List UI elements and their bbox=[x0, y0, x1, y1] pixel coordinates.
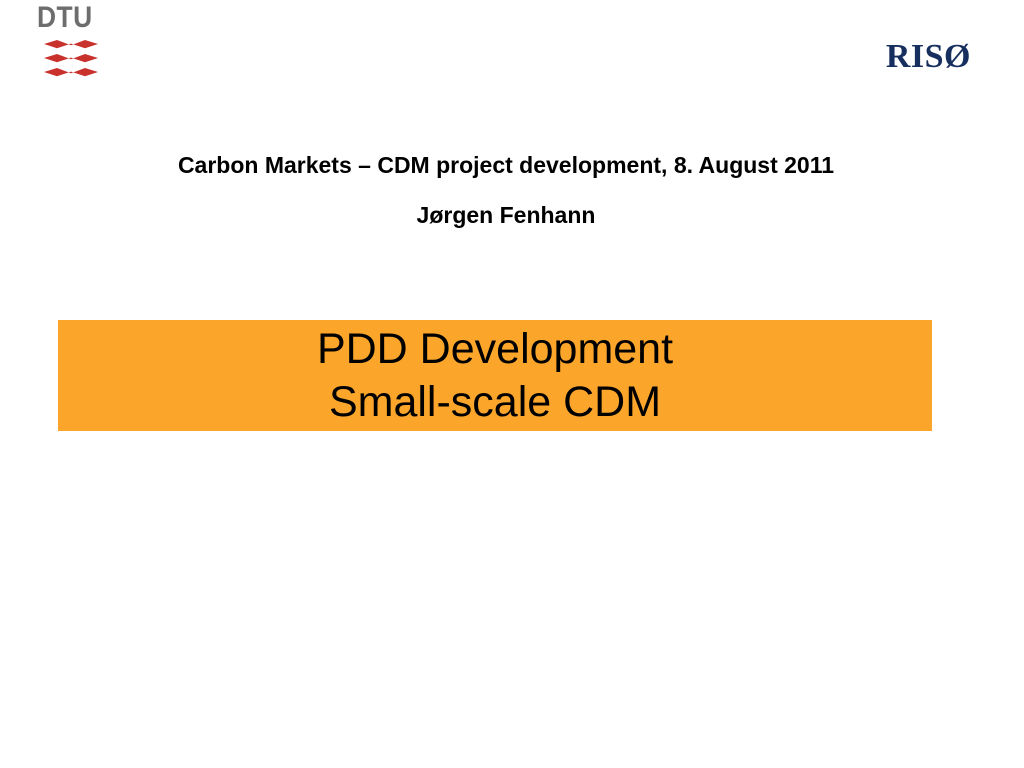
slide-title: Carbon Markets – CDM project development… bbox=[0, 150, 1012, 180]
slide-author: Jørgen Fenhann bbox=[0, 200, 1012, 230]
heading-block: Carbon Markets – CDM project development… bbox=[0, 150, 1012, 230]
orange-title-banner: PDD Development Small-scale CDM bbox=[58, 320, 932, 431]
dtu-logo: DTU bbox=[37, 3, 107, 83]
dtu-bowtie-marks-icon bbox=[44, 40, 98, 84]
presentation-slide: DTU RISØ Carbon Markets – CDM project de… bbox=[0, 0, 1024, 768]
banner-line-secondary: Small-scale CDM bbox=[329, 376, 661, 429]
dtu-wordmark-text: DTU bbox=[37, 3, 99, 33]
banner-line-primary: PDD Development bbox=[317, 323, 673, 376]
riso-wordmark-text: RISØ bbox=[886, 40, 971, 74]
